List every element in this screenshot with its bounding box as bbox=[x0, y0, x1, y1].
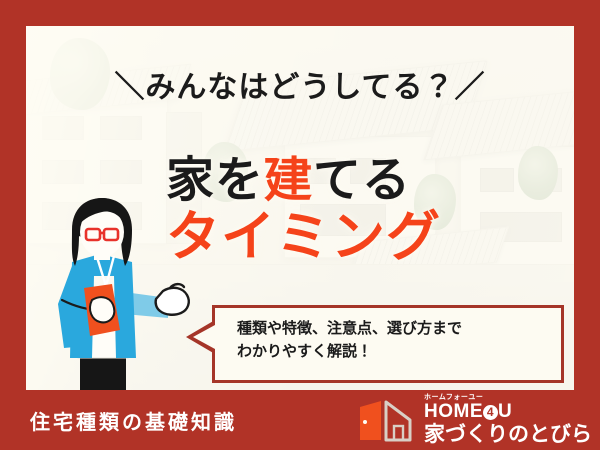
banner-root: ＼みんなはどうしてる？／ 家を建てる タイミング 種類や特徴、注意点、選び方まで… bbox=[0, 0, 600, 450]
speech-bubble-line-1: 種類や特徴、注意点、選び方まで bbox=[237, 317, 462, 340]
door-house-icon bbox=[354, 396, 418, 442]
open-door bbox=[360, 401, 381, 440]
kicker-text: ＼みんなはどうしてる？／ bbox=[26, 62, 574, 106]
house-outline bbox=[386, 402, 410, 440]
background-tree-4 bbox=[518, 146, 558, 200]
logo-wordmark-badge: 4 bbox=[483, 405, 498, 420]
speech-bubble-text: 種類や特徴、注意点、選び方まで わかりやすく解説！ bbox=[237, 317, 462, 364]
model-house-right bbox=[436, 80, 574, 280]
headline-group: 家を建てる タイミング bbox=[166, 156, 441, 264]
bottom-label: 住宅種類の基礎知識 bbox=[30, 406, 237, 435]
character-pointing-hand bbox=[156, 284, 189, 315]
house-window bbox=[394, 426, 403, 440]
headline-line-1: 家を建てる bbox=[166, 156, 441, 205]
logo-wordmark-post: U bbox=[498, 401, 512, 422]
headline-line-2: タイミング bbox=[166, 209, 441, 264]
brand-logo[interactable]: ホームフォーユー HOME4U 家づくりのとびら bbox=[354, 393, 592, 445]
logo-ruby: ホームフォーユー bbox=[424, 394, 592, 401]
speech-bubble-line-2: わかりやすく解説！ bbox=[237, 340, 462, 363]
logo-wordmark: HOME4U bbox=[424, 402, 592, 421]
logo-tagline: 家づくりのとびら bbox=[424, 424, 592, 445]
door-knob bbox=[363, 420, 367, 424]
logo-wordmark-pre: HOME bbox=[424, 401, 483, 422]
content-panel: ＼みんなはどうしてる？／ 家を建てる タイミング 種類や特徴、注意点、選び方まで… bbox=[26, 26, 574, 390]
headline-highlight-char: 建 bbox=[264, 152, 313, 208]
speech-bubble: 種類や特徴、注意点、選び方まで わかりやすく解説！ bbox=[212, 305, 564, 383]
logo-text-block: ホームフォーユー HOME4U 家づくりのとびら bbox=[424, 394, 592, 445]
character-holding-hand bbox=[90, 297, 114, 322]
headline-line-1-post: てる bbox=[313, 152, 411, 208]
character-pants bbox=[80, 356, 126, 390]
character-illustration bbox=[28, 196, 203, 390]
